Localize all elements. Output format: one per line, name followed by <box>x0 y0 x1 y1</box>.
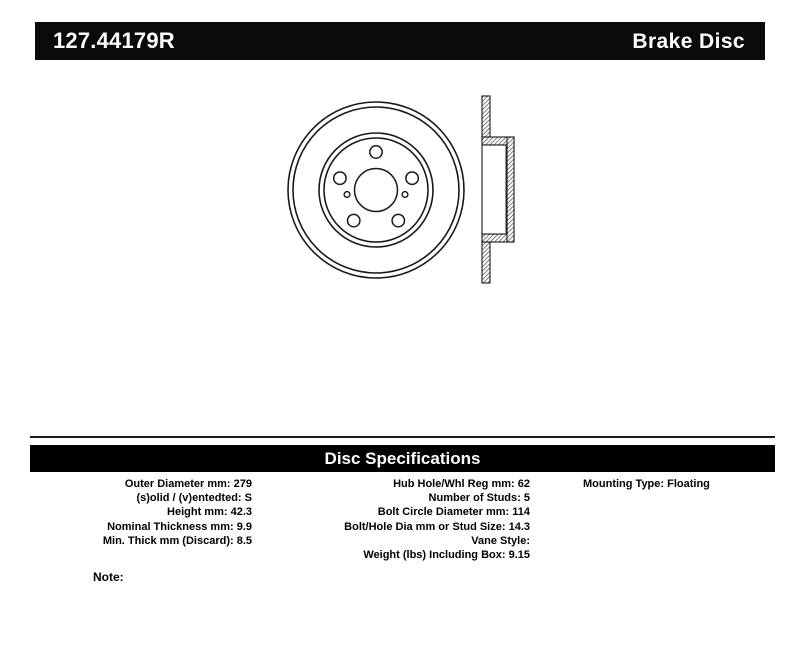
spec-row: (s)olid / (v)entedted: S <box>30 491 252 505</box>
spec-label: Hub Hole/Whl Reg mm: <box>393 478 518 490</box>
spec-section-bar: Disc Specifications <box>30 445 775 472</box>
note-label: Note: <box>93 570 124 584</box>
spec-label: Bolt/Hole Dia mm or Stud Size: <box>344 521 508 533</box>
spec-value: S <box>245 492 252 504</box>
section-divider-rule <box>30 436 775 438</box>
spec-label: Min. Thick mm (Discard): <box>103 535 237 547</box>
product-type-label: Brake Disc <box>632 31 745 52</box>
spec-row: Height mm: 42.3 <box>30 505 252 519</box>
pin-hole-group <box>344 192 408 198</box>
spec-label: Weight (lbs) Including Box: <box>363 549 508 561</box>
spec-row: Min. Thick mm (Discard): 8.5 <box>30 534 252 548</box>
spec-value: 62 <box>518 478 530 490</box>
spec-label: Nominal Thickness mm: <box>107 521 237 533</box>
specifications-table: Outer Diameter mm: 279 (s)olid / (v)ente… <box>30 477 775 577</box>
spec-value: Floating <box>667 478 710 490</box>
spec-label: Bolt Circle Diameter mm: <box>378 506 512 518</box>
spec-column-middle: Hub Hole/Whl Reg mm: 62 Number of Studs:… <box>262 477 530 562</box>
part-number: 127.44179R <box>53 30 175 52</box>
bolt-hole-group <box>334 146 419 227</box>
rotor-face-view <box>286 100 466 280</box>
spec-section-title: Disc Specifications <box>325 450 481 467</box>
spec-row: Bolt Circle Diameter mm: 114 <box>262 505 530 519</box>
spec-value: 9.9 <box>237 521 252 533</box>
technical-drawing-area <box>0 72 800 422</box>
spec-value: 114 <box>512 506 530 518</box>
spec-row: Nominal Thickness mm: 9.9 <box>30 520 252 534</box>
spec-value: 14.3 <box>509 521 530 533</box>
spec-row: Outer Diameter mm: 279 <box>30 477 252 491</box>
spec-column-right: Mounting Type: Floating <box>550 477 775 491</box>
spec-label: Outer Diameter mm: <box>125 478 234 490</box>
spec-row: Number of Studs: 5 <box>262 491 530 505</box>
spec-value: 9.15 <box>509 549 530 561</box>
spec-row: Weight (lbs) Including Box: 9.15 <box>262 548 530 562</box>
spec-label: Vane Style: <box>471 535 530 547</box>
spec-row: Bolt/Hole Dia mm or Stud Size: 14.3 <box>262 520 530 534</box>
spec-label: (s)olid / (v)entedted: <box>136 492 244 504</box>
rotor-edge-view <box>470 92 540 287</box>
spec-label: Number of Studs: <box>429 492 524 504</box>
spec-value: 8.5 <box>237 535 252 547</box>
spec-value: 5 <box>524 492 530 504</box>
spec-row: Hub Hole/Whl Reg mm: 62 <box>262 477 530 491</box>
header-bar: 127.44179R Brake Disc <box>35 22 765 60</box>
spec-row: Mounting Type: Floating <box>583 477 775 491</box>
spec-column-left: Outer Diameter mm: 279 (s)olid / (v)ente… <box>30 477 252 548</box>
spec-value: 279 <box>234 478 252 490</box>
spec-label: Mounting Type: <box>583 478 667 490</box>
spec-value: 42.3 <box>231 506 252 518</box>
spec-label: Height mm: <box>167 506 231 518</box>
spec-row: Vane Style: <box>262 534 530 548</box>
rotor-face-diagram <box>286 100 466 280</box>
rotor-section-diagram <box>470 92 540 287</box>
